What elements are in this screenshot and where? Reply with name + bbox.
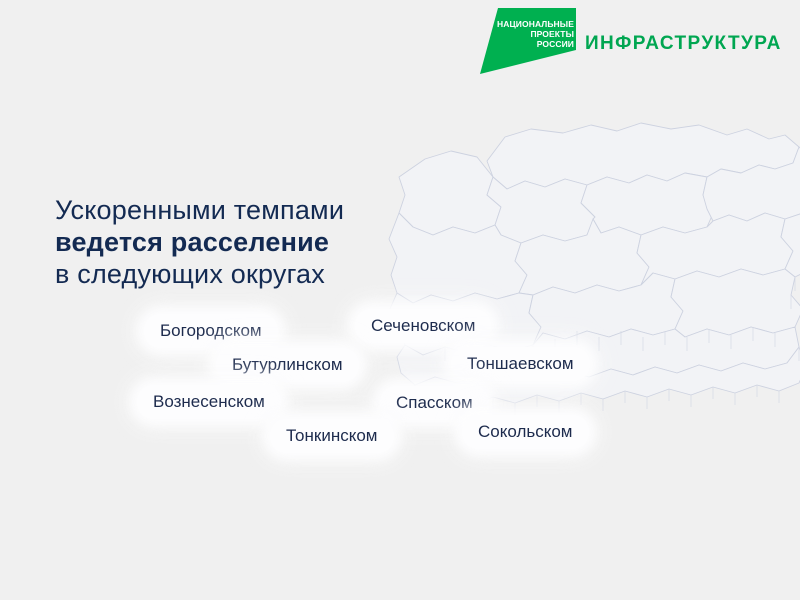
district-pill: Тоншаевском [451,347,590,381]
district-pill: Богородском [144,314,278,348]
district-pill: Вознесенском [137,385,281,419]
district-pill-list: Богородском Сеченовском Бутурлинском Тон… [0,0,800,600]
district-pill: Спасском [380,386,489,420]
district-pill: Сеченовском [355,309,491,343]
district-pill: Сокольском [462,415,589,449]
district-pill: Бутурлинском [216,348,359,382]
district-pill: Тонкинском [270,419,394,453]
slide-root: НАЦИОНАЛЬНЫЕ ПРОЕКТЫ РОССИИ ИНФРАСТРУКТУ… [0,0,800,600]
